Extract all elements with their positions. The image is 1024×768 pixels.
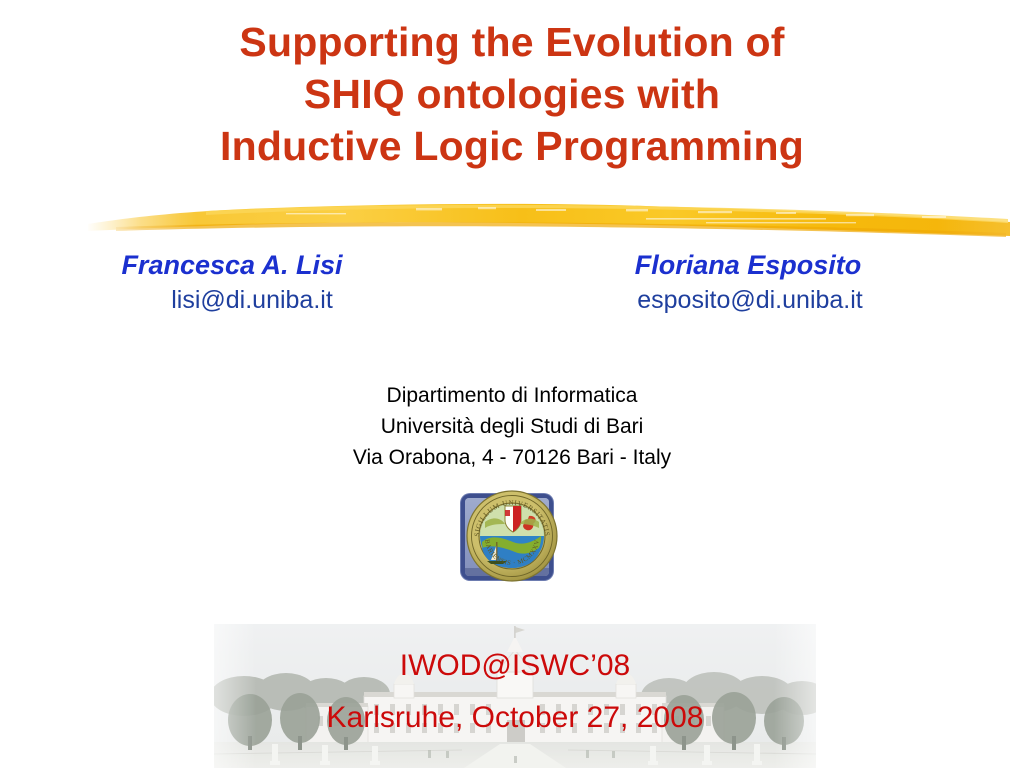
presentation-slide: Supporting the Evolution of SHIQ ontolog… <box>0 0 1024 768</box>
address-line-street: Via Orabona, 4 - 70126 Bari - Italy <box>0 442 1024 473</box>
author-email-right[interactable]: esposito@di.uniba.it <box>578 282 918 318</box>
author-block-right: Floriana Esposito esposito@di.uniba.it <box>578 248 918 318</box>
affiliation-address: Dipartimento di Informatica Università d… <box>0 380 1024 473</box>
university-of-bari-seal: SIGILLUM UNIVERSITATIS BARIENSIS · MCMXX… <box>461 486 563 586</box>
address-line-university: Università degli Studi di Bari <box>0 411 1024 442</box>
conference-location-date: Karlsruhe, October 27, 2008 <box>214 692 816 744</box>
brush-stroke-icon <box>86 196 1011 244</box>
title-line-2: SHIQ ontologies with <box>50 68 974 120</box>
author-email-left[interactable]: lisi@di.uniba.it <box>62 282 402 318</box>
conference-text-overlay: IWOD@ISWC’08 Karlsruhe, October 27, 2008 <box>214 640 816 744</box>
author-name-right: Floriana Esposito <box>578 248 918 282</box>
author-block-left: Francesca A. Lisi lisi@di.uniba.it <box>62 248 402 318</box>
address-line-department: Dipartimento di Informatica <box>0 380 1024 411</box>
yellow-brush-stroke-divider <box>86 196 1011 244</box>
author-name-left: Francesca A. Lisi <box>62 248 402 282</box>
title-line-1: Supporting the Evolution of <box>50 16 974 68</box>
title-line-3: Inductive Logic Programming <box>50 120 974 172</box>
conference-name: IWOD@ISWC’08 <box>214 640 816 692</box>
authors-row: Francesca A. Lisi lisi@di.uniba.it Flori… <box>0 248 1024 344</box>
seal-icon: SIGILLUM UNIVERSITATIS BARIENSIS · MCMXX… <box>461 486 563 586</box>
conference-banner: IWOD@ISWC’08 Karlsruhe, October 27, 2008 <box>214 624 816 768</box>
slide-title: Supporting the Evolution of SHIQ ontolog… <box>50 16 974 172</box>
